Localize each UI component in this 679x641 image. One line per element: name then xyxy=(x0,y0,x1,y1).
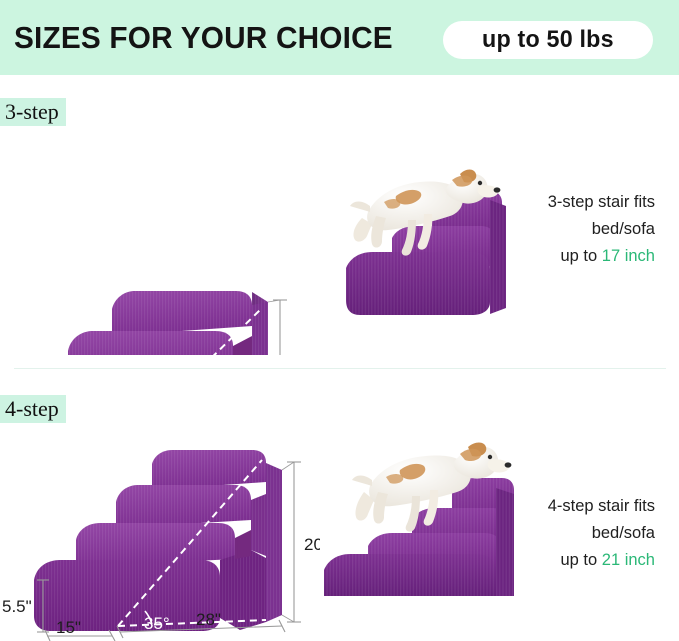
fit-description-4-step: 4-step stair fits bed/sofa up to 21 inch xyxy=(465,493,655,574)
diagram-4-step: 20" 5.5" 15" 28" 35° xyxy=(0,440,320,641)
section-label-3-step: 3-step xyxy=(0,98,66,126)
dim-first-step-4-step: 5.5" xyxy=(2,597,32,616)
fit-line-3-prefix: up to xyxy=(560,247,601,265)
dim-length-4-step: 28" xyxy=(196,610,221,629)
fit-line-1: 3-step stair fits xyxy=(465,189,655,216)
fit-line-2: bed/sofa xyxy=(465,216,655,243)
fit-line-3: up to 21 inch xyxy=(465,547,655,574)
fit-line-3-highlight: 21 inch xyxy=(602,551,655,569)
fit-line-2: bed/sofa xyxy=(465,520,655,547)
section-label-4-step: 4-step xyxy=(0,395,66,423)
fit-line-3-prefix: up to xyxy=(560,551,601,569)
section-divider xyxy=(14,368,666,369)
diagram-3-step: 16" 5" 16" 23.5" 35° xyxy=(0,140,320,355)
dim-angle-4-step: 35° xyxy=(144,614,170,633)
fit-line-1: 4-step stair fits xyxy=(465,493,655,520)
page-title: SIZES FOR YOUR CHOICE xyxy=(14,20,393,56)
fit-line-3: up to 17 inch xyxy=(465,243,655,270)
dim-depth-4-step: 15" xyxy=(56,618,81,637)
fit-line-3-highlight: 17 inch xyxy=(602,247,655,265)
fit-description-3-step: 3-step stair fits bed/sofa up to 17 inch xyxy=(465,189,655,270)
weight-capacity-badge: up to 50 lbs xyxy=(443,21,653,59)
header-band: SIZES FOR YOUR CHOICE up to 50 lbs xyxy=(0,0,679,75)
weight-capacity-label: up to 50 lbs xyxy=(482,26,614,54)
dim-height-4-step: 20" xyxy=(304,535,320,554)
